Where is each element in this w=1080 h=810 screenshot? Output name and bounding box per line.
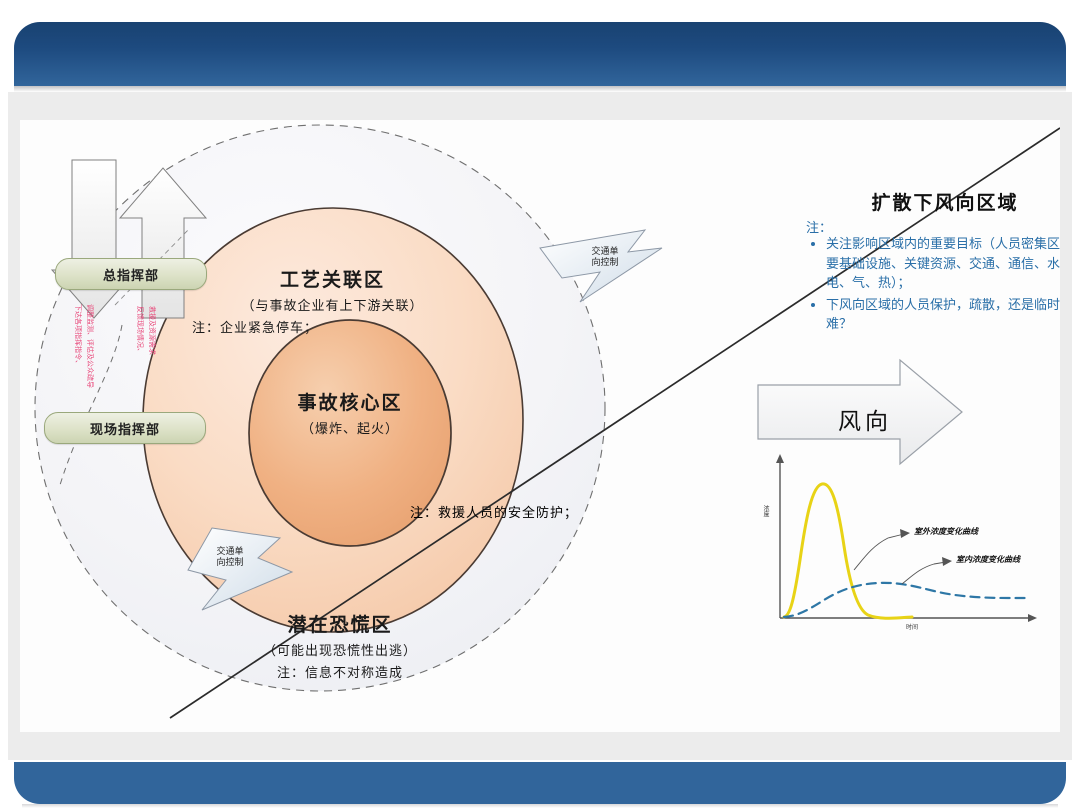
core-zone-subtitle: （爆炸、起火） <box>250 418 450 437</box>
panic-zone-label-group: 潜在恐慌区 （可能出现恐慌性出逃） 注：信息不对称造成 <box>190 610 490 681</box>
traffic-control-badge-bottom-line2: 向控制 <box>208 558 252 569</box>
chart-y-axis-arrowhead <box>776 454 784 463</box>
panic-zone-note: 注：信息不对称造成 <box>190 662 490 681</box>
downwind-title-wrap: 扩散下风向区域 <box>820 188 1060 215</box>
core-zone-title: 事故核心区 <box>250 388 450 415</box>
traffic-control-badge-top-line1: 交通单 <box>583 247 627 258</box>
chart-x-axis-arrowhead <box>1028 614 1037 622</box>
footer-shadow <box>22 804 1058 808</box>
indoor-curve-leader <box>902 562 946 584</box>
slide-header-bar <box>14 22 1066 86</box>
up-arrow-annotation-2: 救援及资源需求 <box>147 306 156 355</box>
downwind-title: 扩散下风向区域 <box>820 188 1060 215</box>
indoor-curve-annotation: 室内浓度变化曲线 <box>956 554 1020 565</box>
concentration-chart-group <box>776 454 1037 622</box>
chart-x-axis-label: 时间 <box>906 622 918 631</box>
rescue-protection-note: 注：救援人员的安全防护； <box>410 502 680 521</box>
outdoor-concentration-curve <box>784 484 912 618</box>
core-zone-label-group: 事故核心区 （爆炸、起火） <box>250 388 450 437</box>
traffic-control-badge-bottom: 交通单 向控制 <box>208 547 252 569</box>
diagram-canvas: 总指挥部 现场指挥部 下达各项指挥指令、 调整监测、评估及公众疏导 反馈现场情况… <box>20 120 1060 732</box>
down-arrow-annotation-2: 调整监测、评估及公众疏导 <box>85 304 94 388</box>
downwind-bullet-2: 下风向区域的人员保护，疏散，还是临时避难？ <box>826 295 1060 334</box>
outdoor-curve-leader <box>854 534 904 570</box>
traffic-control-badge-top: 交通单 向控制 <box>583 247 627 269</box>
traffic-control-badge-top-line2: 向控制 <box>583 258 627 269</box>
down-arrow-annotation-1: 下达各项指挥指令、 <box>73 304 82 367</box>
panic-zone-subtitle: （可能出现恐慌性出逃） <box>190 640 490 659</box>
slide-footer-bar <box>14 762 1066 804</box>
traffic-control-badge-bottom-line1: 交通单 <box>208 547 252 558</box>
indoor-curve-leader-head <box>942 557 952 566</box>
process-zone-subtitle: （与事故企业有上下游关联） <box>160 295 505 314</box>
process-zone-label-group: 工艺关联区 （与事故企业有上下游关联） 注：企业紧急停车； <box>160 265 505 336</box>
indoor-concentration-curve <box>784 583 1030 617</box>
process-zone-title: 工艺关联区 <box>160 265 505 292</box>
outdoor-curve-annotation: 室外浓度变化曲线 <box>914 526 978 537</box>
chart-y-axis-label: 浓度 <box>761 505 770 517</box>
outdoor-curve-leader-head <box>900 529 910 538</box>
up-arrow-annotation-1: 反馈现场情况、 <box>135 306 144 355</box>
slide-root: 总指挥部 现场指挥部 下达各项指挥指令、 调整监测、评估及公众疏导 反馈现场情况… <box>0 0 1080 810</box>
site-command-box[interactable]: 现场指挥部 <box>44 412 206 444</box>
downwind-bullet-list: 关注影响区域内的重要目标（人员密集区、重要基础设施、关键资源、交通、通信、水、电… <box>806 234 1060 334</box>
process-zone-note: 注：企业紧急停车； <box>160 317 505 336</box>
downwind-bullet-1: 关注影响区域内的重要目标（人员密集区、重要基础设施、关键资源、交通、通信、水、电… <box>826 234 1060 293</box>
panic-zone-title: 潜在恐慌区 <box>190 610 490 637</box>
wind-direction-label: 风向 <box>810 402 920 436</box>
